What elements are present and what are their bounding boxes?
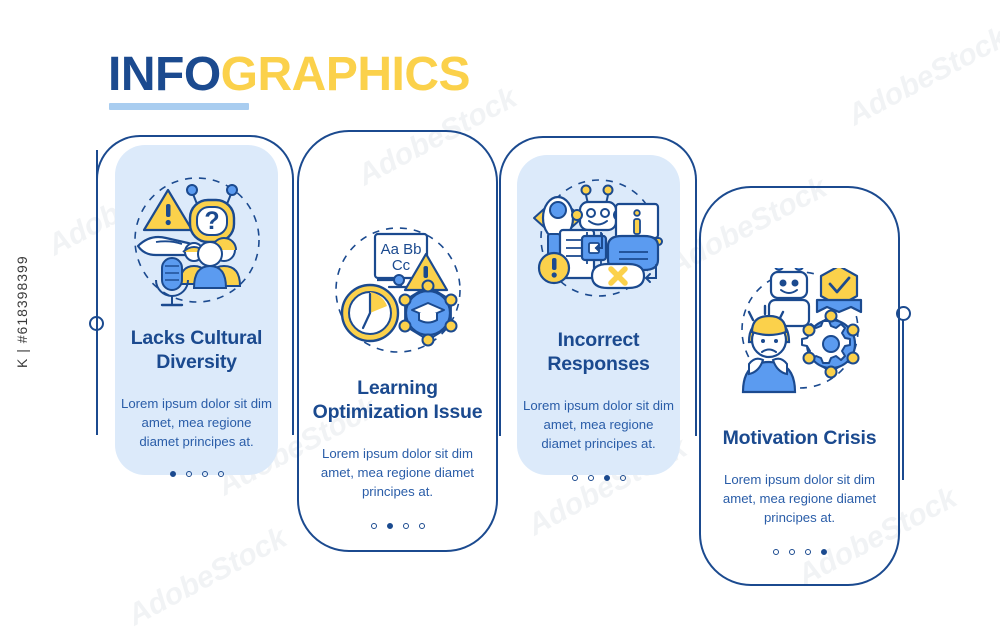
svg-text:?: ? (204, 207, 219, 235)
card-title-4: Motivation Crisis (723, 426, 877, 450)
dot[interactable] (821, 549, 827, 555)
watermark-tile: AdobeStock (122, 521, 293, 633)
card-2[interactable]: Aa Bb Cc (297, 218, 498, 548)
learning-optimization-icon: Aa Bb Cc (323, 218, 473, 368)
dot[interactable] (805, 549, 811, 555)
card-body-4: Lorem ipsum dolor sit dim amet, mea regi… (722, 470, 877, 527)
card-title-2: Learning Optimization Issue (305, 376, 490, 424)
dot[interactable] (403, 523, 409, 529)
infographic-canvas: AdobeStock AdobeStock AdobeStock AdobeSt… (0, 0, 1000, 623)
card-4[interactable]: Motivation Crisis Lorem ipsum dolor sit … (699, 268, 900, 588)
dot[interactable] (218, 471, 224, 477)
dot[interactable] (186, 471, 192, 477)
incorrect-responses-icon (524, 168, 674, 318)
dot[interactable] (773, 549, 779, 555)
dot[interactable] (789, 549, 795, 555)
dot[interactable] (371, 523, 377, 529)
pagination-dots-1[interactable] (170, 471, 224, 477)
dot[interactable] (604, 475, 610, 481)
pagination-dots-2[interactable] (371, 523, 425, 529)
cultural-diversity-icon: ? (122, 168, 272, 318)
dot[interactable] (202, 471, 208, 477)
card-body-1: Lorem ipsum dolor sit dim amet, mea regi… (121, 394, 273, 451)
pagination-dots-4[interactable] (773, 549, 827, 555)
dot[interactable] (572, 475, 578, 481)
dot[interactable] (588, 475, 594, 481)
svg-text:Aa Bb: Aa Bb (380, 241, 421, 258)
dot[interactable] (387, 523, 393, 529)
svg-text:Cc: Cc (391, 257, 410, 274)
card-3[interactable]: Incorrect Responses Lorem ipsum dolor si… (517, 162, 680, 477)
dot[interactable] (419, 523, 425, 529)
dot[interactable] (170, 471, 176, 477)
stock-id-watermark: K | #618398399 (14, 255, 30, 368)
motivation-crisis-icon (725, 268, 875, 418)
card-body-2: Lorem ipsum dolor sit dim amet, mea regi… (318, 444, 478, 501)
watermark-tile: AdobeStock (842, 21, 1000, 133)
card-body-3: Lorem ipsum dolor sit dim amet, mea regi… (523, 396, 675, 453)
title-part-info: INFO (108, 48, 221, 101)
title-underline (109, 103, 249, 110)
card-title-3: Incorrect Responses (523, 328, 674, 376)
page-title: INFOGRAPHICS (108, 48, 628, 116)
title-part-graphics: GRAPHICS (221, 48, 470, 101)
dot[interactable] (620, 475, 626, 481)
card-1[interactable]: ? La (115, 158, 278, 478)
card-title-1: Lacks Cultural Diversity (121, 326, 272, 374)
pagination-dots-3[interactable] (572, 475, 626, 481)
